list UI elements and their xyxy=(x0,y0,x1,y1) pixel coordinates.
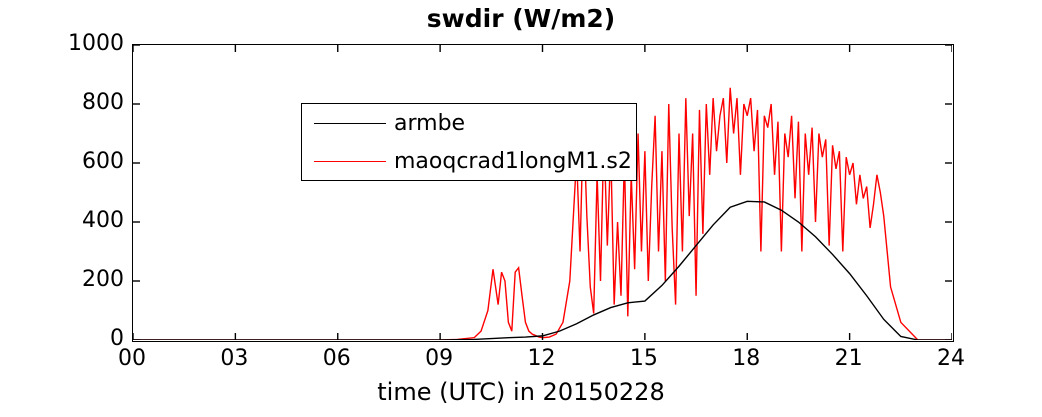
legend: armbe maoqcrad1longM1.s2 xyxy=(301,103,637,181)
legend-item-armbe: armbe xyxy=(302,104,636,143)
legend-line-maoqcrad1longM1-s2 xyxy=(314,161,386,162)
y-tick-label: 800 xyxy=(6,92,124,114)
x-axis-label: time (UTC) in 20150228 xyxy=(0,378,1042,406)
plot-area: armbe maoqcrad1longM1.s2 xyxy=(132,44,954,342)
y-axis-ticks xyxy=(133,45,952,340)
x-tick-label: 15 xyxy=(604,348,684,370)
y-tick-label: 400 xyxy=(6,210,124,232)
plot-svg xyxy=(133,45,952,340)
y-tick-label: 200 xyxy=(6,269,124,291)
x-axis-ticks xyxy=(133,45,952,340)
legend-line-armbe xyxy=(314,123,386,124)
legend-label-armbe: armbe xyxy=(394,111,465,136)
x-tick-label: 18 xyxy=(706,348,786,370)
y-tick-label: 1000 xyxy=(6,33,124,55)
x-tick-label: 12 xyxy=(502,348,582,370)
legend-item-maoqcrad1longM1-s2: maoqcrad1longM1.s2 xyxy=(302,142,636,181)
x-tick-label: 21 xyxy=(809,348,889,370)
x-tick-label: 09 xyxy=(399,348,479,370)
x-tick-label: 03 xyxy=(194,348,274,370)
y-tick-label: 0 xyxy=(6,328,124,350)
series-armbe xyxy=(133,201,952,340)
x-tick-label: 00 xyxy=(92,348,172,370)
legend-label-maoqcrad1longM1-s2: maoqcrad1longM1.s2 xyxy=(394,149,632,174)
x-tick-label: 06 xyxy=(297,348,377,370)
chart-title: swdir (W/m2) xyxy=(0,4,1042,33)
x-tick-label: 24 xyxy=(911,348,991,370)
chart-figure: swdir (W/m2) 02004006008001000 armbe mao… xyxy=(0,0,1042,417)
y-tick-label: 600 xyxy=(6,151,124,173)
